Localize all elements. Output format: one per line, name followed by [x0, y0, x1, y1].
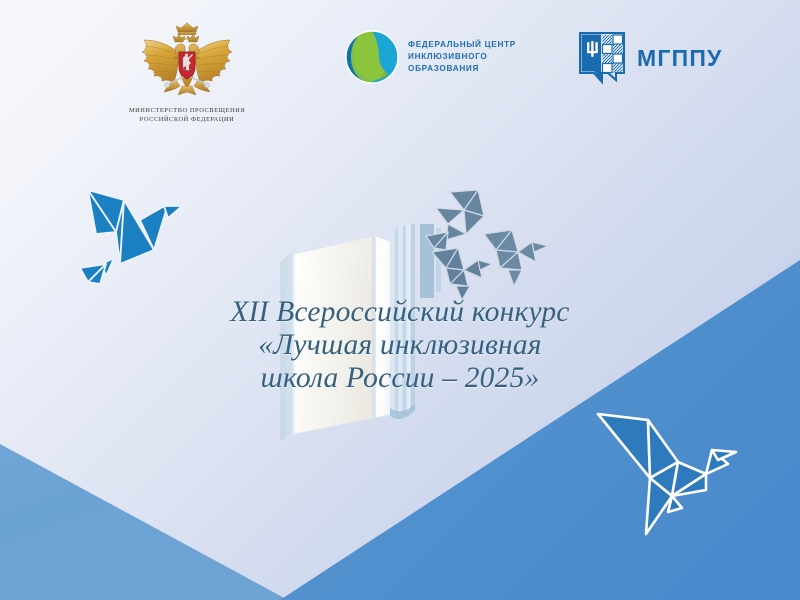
- origami-bird-icon: [58, 172, 208, 290]
- logo-bar: Министерство просвещения Российской Феде…: [0, 0, 800, 140]
- logo-ministry-of-education: Министерство просвещения Российской Феде…: [104, 22, 270, 124]
- origami-birds-icon: [412, 190, 557, 305]
- ministry-caption: Министерство просвещения Российской Феде…: [104, 106, 270, 124]
- origami-bird-outline-icon: [588, 400, 768, 550]
- double-headed-eagle-icon: [132, 22, 242, 98]
- circle-globe-icon: [345, 30, 399, 84]
- poster-canvas: XII Всероссийский конкурс «Лучшая инклюз…: [0, 0, 800, 600]
- shield-psi-checkerboard-icon: [578, 30, 626, 86]
- logo-federal-centre: Федеральный центр инклюзивного образован…: [345, 30, 516, 84]
- mgppu-caption: МГППУ: [637, 45, 723, 72]
- page-title: XII Всероссийский конкурс «Лучшая инклюз…: [0, 296, 800, 395]
- logo-mgppu: МГППУ: [578, 30, 723, 86]
- federal-centre-caption: Федеральный центр инклюзивного образован…: [408, 39, 516, 76]
- background-wedge-bottom-left: [0, 372, 288, 600]
